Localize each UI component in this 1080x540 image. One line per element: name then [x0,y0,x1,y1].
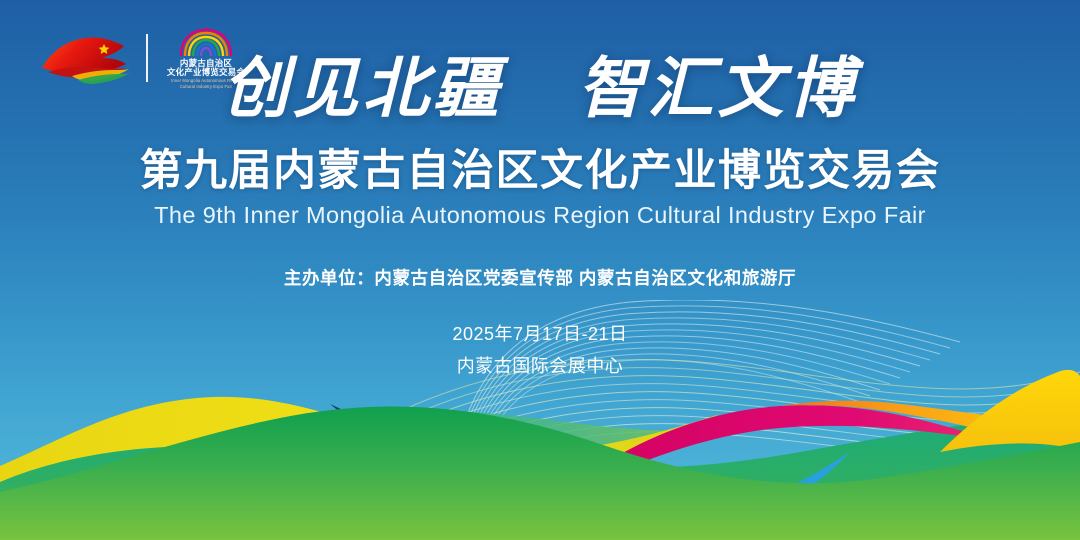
expo-banner: 内蒙古自治区 文化产业博览交易会 Inner Mongolia Autonomo… [0,0,1080,540]
yellow-peak-right [940,370,1080,452]
event-venue: 内蒙古国际会展中心 [0,352,1080,378]
title-chinese: 第九届内蒙古自治区文化产业博览交易会 [0,148,1080,195]
organizer-line: 主办单位：内蒙古自治区党委宣传部 内蒙古自治区文化和旅游厅 [0,265,1080,290]
slogan-part-2: 智汇文博 [578,53,858,126]
slogan-part-1: 创见北疆 [223,53,503,126]
event-date: 2025年7月17日-21日 [0,320,1080,346]
title-english: The 9th Inner Mongolia Autonomous Region… [0,202,1080,229]
calligraphy-slogan: 创见北疆 智汇文博 [0,52,1080,128]
